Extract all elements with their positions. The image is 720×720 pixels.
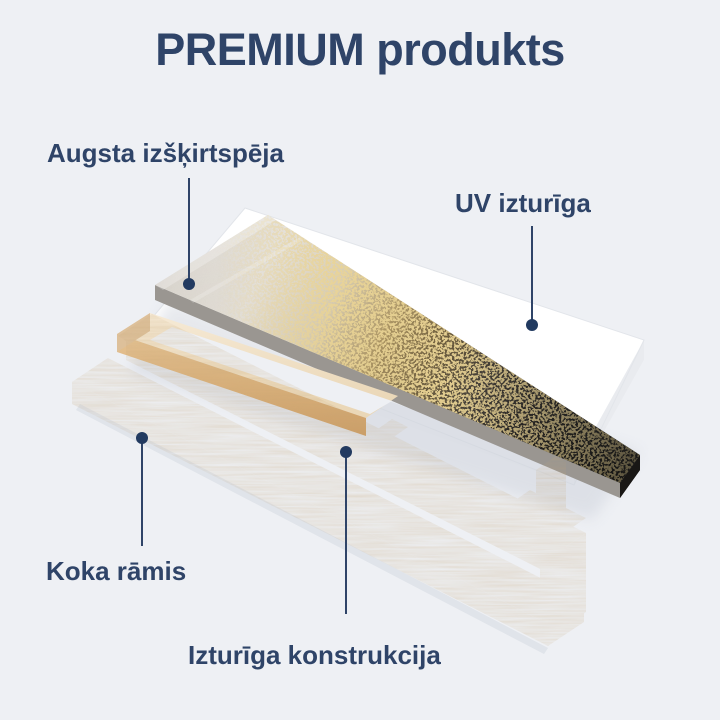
callout-label-frame: Koka rāmis (46, 558, 186, 584)
leader-dot-construction (340, 446, 352, 458)
product-illustration (0, 0, 720, 720)
leader-stem (345, 450, 347, 614)
callout-label-uv: UV izturīga (455, 190, 591, 216)
leader-dot-resolution (183, 278, 195, 290)
leader-dot-uv (526, 319, 538, 331)
gold-speckle-band (120, 200, 660, 500)
leader-stem (531, 226, 533, 326)
wooden-stretcher-frame-upper (117, 313, 570, 520)
printed-canvas (120, 200, 660, 520)
callout-label-resolution: Augsta izšķirtspēja (47, 140, 284, 166)
leader-dot-frame (136, 432, 148, 444)
callout-label-construction: Izturīga konstrukcija (188, 642, 441, 668)
leader-stem (141, 436, 143, 546)
canvas-backing-panel (152, 208, 644, 485)
wooden-stretcher-frame (72, 314, 586, 646)
page-title: PREMIUM produkts (0, 24, 720, 76)
infographic-canvas: PREMIUM produkts Augsta izšķirtspēja UV … (0, 0, 720, 720)
leader-stem (188, 178, 190, 285)
